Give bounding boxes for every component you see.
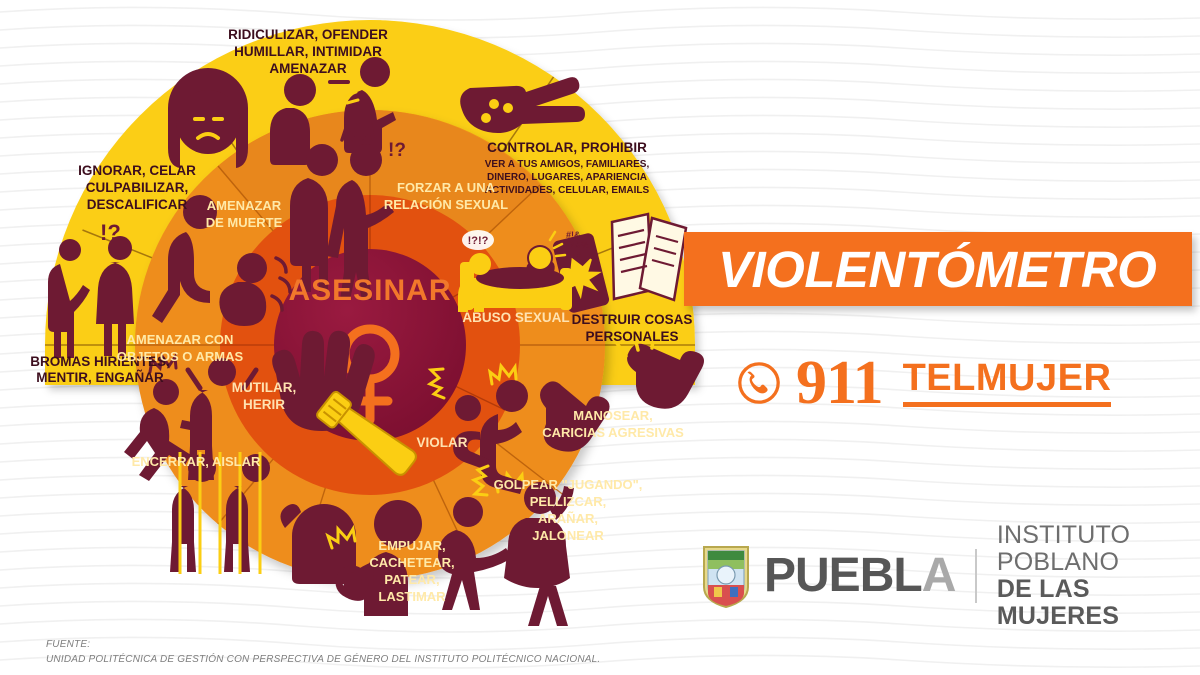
svg-text:VER A TUS AMIGOS, FAMILIARES,: VER A TUS AMIGOS, FAMILIARES, xyxy=(485,159,650,170)
svg-text:DESCALIFICAR: DESCALIFICAR xyxy=(87,197,188,212)
svg-text:RIDICULIZAR, OFENDER: RIDICULIZAR, OFENDER xyxy=(228,27,388,42)
label-controlar: CONTROLAR, PROHIBIR VER A TUS AMIGOS, FA… xyxy=(485,140,650,196)
svg-text:#!&: #!& xyxy=(566,230,581,240)
svg-text:CARICIAS AGRESIVAS: CARICIAS AGRESIVAS xyxy=(542,425,684,440)
source-credit: FUENTE: UNIDAD POLITÉCNICA DE GESTIÓN CO… xyxy=(46,637,600,667)
logo-block: PUEBLA INSTITUTO POBLANO DE LAS MUJERES xyxy=(700,522,1200,630)
label-violar: VIOLAR xyxy=(416,435,467,450)
svg-text:!?: !? xyxy=(100,220,121,245)
svg-text:MENTIR, ENGAÑAR: MENTIR, ENGAÑAR xyxy=(36,370,164,385)
label-abuso-sexual: ABUSO SEXUAL xyxy=(462,310,569,325)
infographic-canvas: !? xyxy=(0,0,1200,675)
puebla-wordmark: PUEBLA xyxy=(764,552,955,600)
svg-text:LASTIMAR: LASTIMAR xyxy=(378,589,446,604)
svg-text:ABUSO SEXUAL: ABUSO SEXUAL xyxy=(462,310,569,325)
svg-text:PELLIZCAR,: PELLIZCAR, xyxy=(530,494,607,509)
puebla-coat-of-arms-icon xyxy=(700,543,752,609)
svg-text:#: # xyxy=(576,250,581,260)
svg-text:AMENAZAR: AMENAZAR xyxy=(269,61,346,76)
svg-text:!?: !? xyxy=(388,140,406,161)
svg-text:CULPABILIZAR,: CULPABILIZAR, xyxy=(86,180,189,195)
svg-text:!?!?: !?!? xyxy=(468,235,489,247)
violentometro-wheel: !? xyxy=(0,0,740,675)
phone-circle-icon[interactable] xyxy=(736,360,782,406)
svg-text:MUTILAR,: MUTILAR, xyxy=(232,380,297,395)
label-encerrar: ENCERRAR, AISLAR xyxy=(132,454,261,469)
institute-line-2: DE LAS MUJERES xyxy=(997,576,1200,630)
puebla-wordmark-light: A xyxy=(922,552,956,600)
label-ignorar: IGNORAR, CELAR CULPABILIZAR, DESCALIFICA… xyxy=(78,163,196,212)
svg-text:ACTIVIDADES, CELULAR, EMAILS: ACTIVIDADES, CELULAR, EMAILS xyxy=(485,185,650,196)
svg-text:HUMILLAR, INTIMIDAR: HUMILLAR, INTIMIDAR xyxy=(234,44,382,59)
svg-text:GOLPEAR "JUGANDO",: GOLPEAR "JUGANDO", xyxy=(494,477,643,492)
hotline-number: 911 xyxy=(796,352,883,414)
source-label: FUENTE: xyxy=(46,637,600,652)
svg-text:RELACIÓN SEXUAL: RELACIÓN SEXUAL xyxy=(384,197,508,212)
svg-text:IGNORAR, CELAR: IGNORAR, CELAR xyxy=(78,163,196,178)
puebla-wordmark-dark: PUEBL xyxy=(764,552,922,600)
source-text: UNIDAD POLITÉCNICA DE GESTIÓN CON PERSPE… xyxy=(46,652,600,667)
svg-text:VIOLAR: VIOLAR xyxy=(416,435,467,450)
svg-text:OBJETOS O ARMAS: OBJETOS O ARMAS xyxy=(117,349,244,364)
logo-divider xyxy=(975,549,977,603)
svg-text:!?&%: !?&% xyxy=(566,240,589,250)
banner-title: VIOLENTÓMETRO xyxy=(684,244,1156,295)
svg-text:DESTRUIR COSAS: DESTRUIR COSAS xyxy=(572,312,693,327)
svg-text:DE MUERTE: DE MUERTE xyxy=(206,215,283,230)
svg-text:AMENAZAR: AMENAZAR xyxy=(207,198,282,213)
svg-text:CACHETEAR,: CACHETEAR, xyxy=(369,555,454,570)
svg-text:HERIR: HERIR xyxy=(243,397,285,412)
hotline-underline xyxy=(903,402,1112,407)
svg-text:AMENAZAR CON: AMENAZAR CON xyxy=(127,332,234,347)
svg-text:FORZAR A UNA: FORZAR A UNA xyxy=(397,180,496,195)
svg-text:JALONEAR: JALONEAR xyxy=(532,528,604,543)
svg-text:ARAÑAR,: ARAÑAR, xyxy=(538,511,598,526)
center-label: ASESINAR xyxy=(288,274,451,307)
hotline-name-block: TELMUJER xyxy=(903,359,1112,407)
institute-name: INSTITUTO POBLANO DE LAS MUJERES xyxy=(997,522,1200,630)
svg-text:MANOSEAR,: MANOSEAR, xyxy=(573,408,652,423)
hotline-block: 911 TELMUJER xyxy=(736,352,1111,414)
violentometro-banner: VIOLENTÓMETRO xyxy=(684,232,1192,306)
svg-text:ENCERRAR, AISLAR: ENCERRAR, AISLAR xyxy=(132,454,261,469)
institute-line-1: INSTITUTO POBLANO xyxy=(997,522,1200,576)
svg-text:CONTROLAR, PROHIBIR: CONTROLAR, PROHIBIR xyxy=(487,140,647,155)
svg-text:EMPUJAR,: EMPUJAR, xyxy=(378,538,445,553)
svg-text:DINERO, LUGARES, APARIENCIA: DINERO, LUGARES, APARIENCIA xyxy=(487,172,647,183)
sad-woman-face-icon xyxy=(168,68,248,168)
svg-text:PERSONALES: PERSONALES xyxy=(585,329,678,344)
hotline-name: TELMUJER xyxy=(903,359,1112,402)
svg-text:PATEAR,: PATEAR, xyxy=(384,572,439,587)
